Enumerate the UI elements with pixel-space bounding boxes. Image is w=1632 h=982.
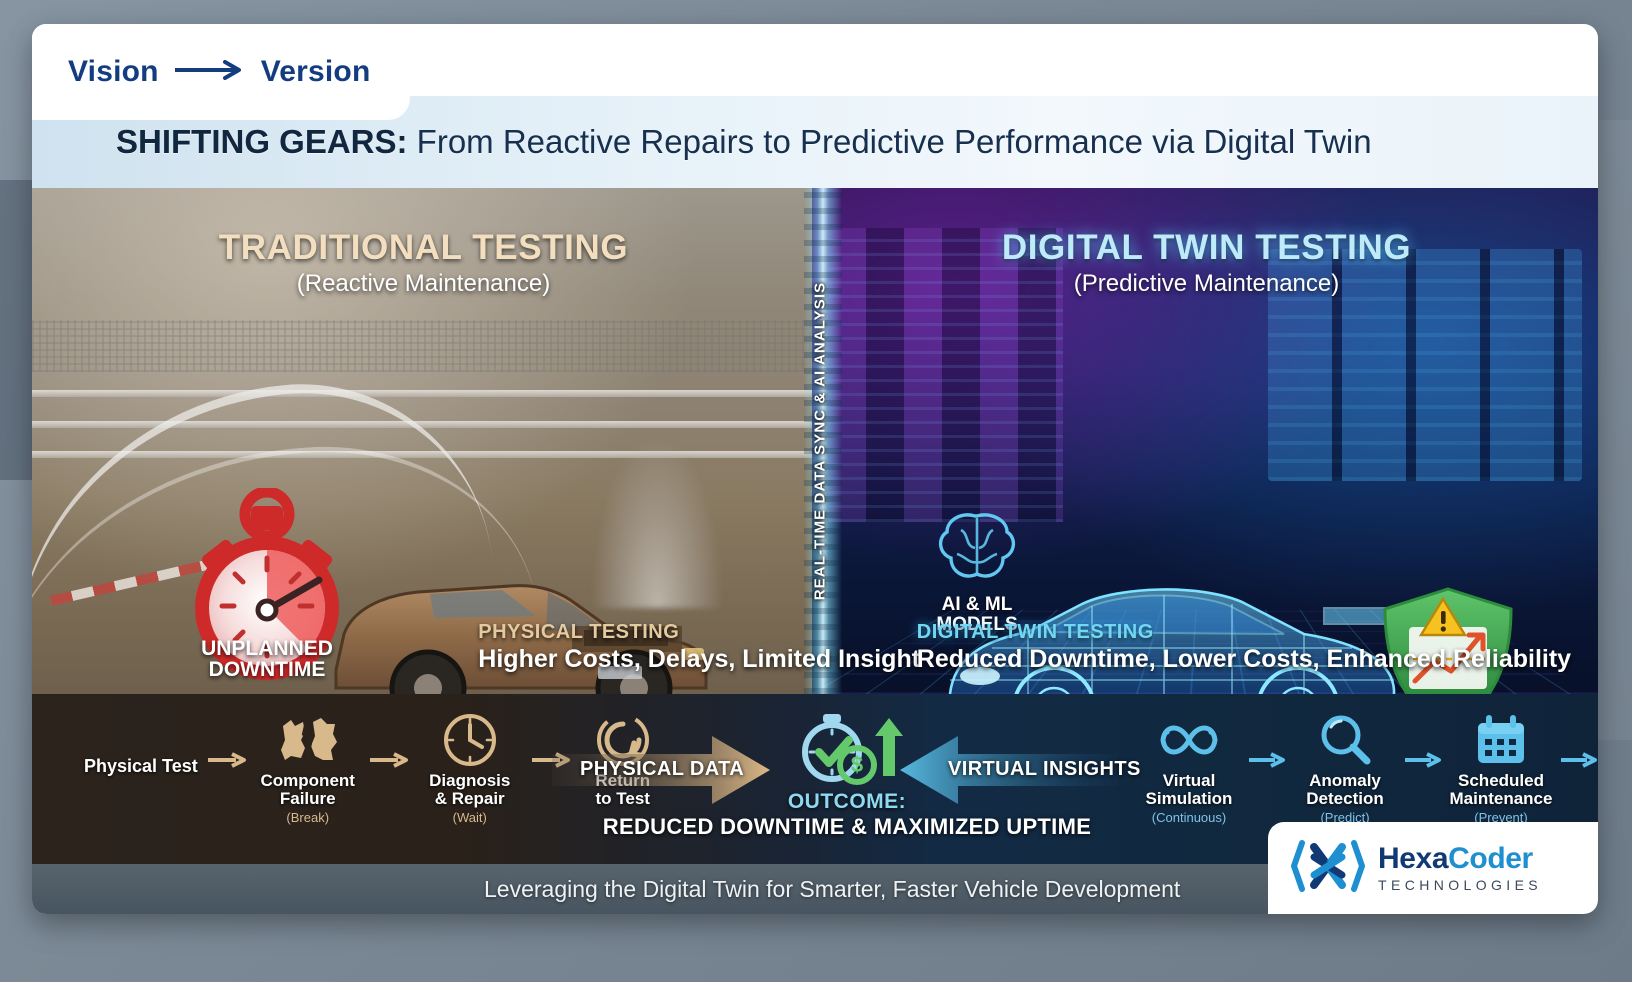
screenshot-root: Vision Version SHIFTING GEARS: From Reac… [0, 0, 1632, 982]
left-heading: TRADITIONAL TESTING [95, 228, 753, 268]
divider-label: REAL-TIME DATA SYNC & AI ANALYSIS [811, 282, 828, 601]
step-line-2: Failure [256, 790, 360, 808]
clock-icon [418, 712, 522, 768]
long-right-arrow-icon [173, 60, 247, 85]
flow-arrow-icon-4 [1247, 712, 1287, 773]
step-line-1: Component [256, 772, 360, 790]
footer-tagline: Leveraging the Digital Twin for Smarter,… [484, 876, 1180, 903]
magnifier-icon [1293, 712, 1397, 768]
flow-arrow-icon-2 [368, 712, 410, 773]
infinity-icon [1137, 712, 1241, 768]
step-line-2: Detection [1293, 790, 1397, 808]
physical-test-label: Physical Test [84, 712, 198, 777]
flow-arrow-icon-6 [1559, 712, 1598, 773]
logo-part-hexa: Hexa [1378, 842, 1448, 875]
flow-step-sub: (Wait) [418, 810, 522, 825]
step-line-1: Virtual [1137, 772, 1241, 790]
flow-step-virtual-simulation: Virtual Simulation (Continuous) [1137, 712, 1241, 825]
hexacoder-logo-icon [1290, 835, 1366, 902]
virtual-flow-group: Virtual Simulation (Continuous) [1137, 712, 1598, 825]
right-heading-block: DIGITAL TWIN TESTING (Predictive Mainten… [862, 228, 1551, 298]
step-line-2: Simulation [1137, 790, 1241, 808]
outcome-stopwatch-dollar-icon: $ [592, 710, 1102, 788]
page-title: SHIFTING GEARS: From Reactive Repairs to… [116, 123, 1372, 161]
outcome-block: $ OUTCOME: REDUCED DOWNTIME & MAXIMIZED … [592, 710, 1102, 840]
brain-icon [931, 508, 1023, 586]
step-line-1: Scheduled [1449, 772, 1553, 790]
flow-step-label: Diagnosis & Repair [418, 772, 522, 808]
calendar-icon [1449, 712, 1553, 768]
engine-smoke [592, 438, 722, 608]
flow-step-sub: (Continuous) [1137, 810, 1241, 825]
step-line-1: Anomaly [1293, 772, 1397, 790]
flow-step-sub: (Break) [256, 810, 360, 825]
step-line-2: & Repair [418, 790, 522, 808]
step-line-2: Maintenance [1449, 790, 1553, 808]
hexacoder-logo-text: HexaCoder TECHNOLOGIES [1378, 844, 1542, 893]
flow-step-anomaly-detection: Anomaly Detection (Predict) [1293, 712, 1397, 825]
guard-rail-1 [32, 390, 818, 397]
step-line-1: Diagnosis [418, 772, 522, 790]
broken-gear-icon [256, 712, 360, 768]
infographic-card: Vision Version SHIFTING GEARS: From Reac… [32, 24, 1598, 914]
flow-step-component-failure: Component Failure (Break) [256, 712, 360, 825]
left-heading-block: TRADITIONAL TESTING (Reactive Maintenanc… [95, 228, 753, 298]
guard-rail-2 [32, 421, 818, 428]
svg-text:$: $ [851, 752, 863, 777]
track-fence [32, 320, 818, 372]
outcome-value: REDUCED DOWNTIME & MAXIMIZED UPTIME [592, 814, 1102, 840]
scene-panel: REAL-TIME DATA SYNC & AI ANALYSIS TRADIT… [32, 188, 1598, 694]
right-subheading: (Predictive Maintenance) [862, 270, 1551, 298]
right-caption-value: Reduced Downtime, Lower Costs, Enhanced … [917, 645, 1571, 674]
logo-subtitle: TECHNOLOGIES [1378, 877, 1542, 893]
right-caption: DIGITAL TWIN TESTING Reduced Downtime, L… [917, 621, 1571, 674]
flow-step-label: Virtual Simulation [1137, 772, 1241, 808]
flow-step-label: Scheduled Maintenance [1449, 772, 1553, 808]
logo-part-coder: Coder [1448, 842, 1533, 875]
right-heading: DIGITAL TWIN TESTING [862, 228, 1551, 268]
left-caption: PHYSICAL TESTING Higher Costs, Delays, L… [478, 621, 920, 674]
outcome-key: OUTCOME: [592, 790, 1102, 814]
brand-word-vision: Vision [68, 55, 159, 89]
badge-line-1: UNPLANNED [167, 638, 367, 659]
hexacoder-logo-block: HexaCoder TECHNOLOGIES [1268, 822, 1598, 914]
brand-pill: Vision Version [32, 24, 410, 120]
flow-step-label: Component Failure [256, 772, 360, 808]
flow-step-scheduled-maintenance: Scheduled Maintenance (Prevent) [1449, 712, 1553, 825]
flow-arrow-icon [206, 712, 248, 773]
unplanned-downtime-label: UNPLANNED DOWNTIME [167, 638, 367, 681]
left-caption-key: PHYSICAL TESTING [478, 621, 920, 644]
left-subheading: (Reactive Maintenance) [95, 270, 753, 298]
unplanned-downtime-badge: UNPLANNED DOWNTIME [167, 488, 367, 694]
flow-step-diagnosis-repair: Diagnosis & Repair (Wait) [418, 712, 522, 825]
page-title-strong: SHIFTING GEARS: [116, 123, 408, 160]
ai-ml-line-1: AI & ML [912, 595, 1042, 615]
flow-arrow-icon-5 [1403, 712, 1443, 773]
left-caption-value: Higher Costs, Delays, Limited Insight [478, 645, 920, 674]
flow-step-label: Anomaly Detection [1293, 772, 1397, 808]
brand-word-version: Version [261, 55, 371, 89]
page-title-rest: From Reactive Repairs to Predictive Perf… [408, 123, 1372, 160]
ai-ml-models-block: AI & ML MODELS [912, 508, 1042, 635]
badge-line-2: DOWNTIME [167, 659, 367, 680]
right-caption-key: DIGITAL TWIN TESTING [917, 621, 1571, 644]
